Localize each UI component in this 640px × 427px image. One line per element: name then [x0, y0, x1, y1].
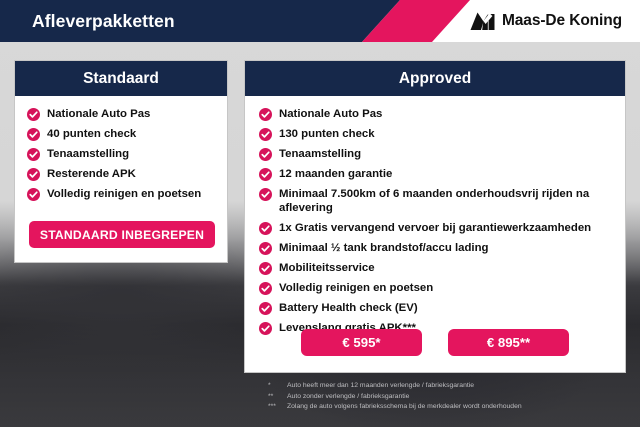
check-circle-icon	[27, 148, 40, 161]
list-item-label: 40 punten check	[47, 127, 136, 141]
check-circle-icon	[259, 168, 272, 181]
list-item: Minimaal 7.500km of 6 maanden onderhouds…	[259, 187, 625, 215]
list-item: Volledig reinigen en poetsen	[27, 187, 227, 201]
footnote-text: Zolang de auto volgens fabrieksschema bi…	[287, 402, 522, 413]
price-button-row: € 595* € 895**	[245, 329, 625, 356]
footnotes: * Auto heeft meer dan 12 maanden verleng…	[268, 381, 522, 413]
standard-card-heading: Standaard	[15, 61, 227, 96]
price-button-595[interactable]: € 595*	[301, 329, 422, 356]
list-item: Mobiliteitsservice	[259, 261, 625, 275]
check-circle-icon	[259, 242, 272, 255]
list-item: 130 punten check	[259, 127, 625, 141]
brand-name: Maas-De Koning	[502, 12, 622, 30]
list-item-label: Minimaal 7.500km of 6 maanden onderhouds…	[279, 187, 625, 215]
check-circle-icon	[27, 188, 40, 201]
page-header: Afleverpakketten Maas-De Koning	[0, 0, 640, 42]
list-item: Battery Health check (EV)	[259, 301, 625, 315]
standard-feature-list: Nationale Auto Pas 40 punten check Tenaa…	[15, 96, 227, 201]
list-item-label: Battery Health check (EV)	[279, 301, 418, 315]
list-item-label: 12 maanden garantie	[279, 167, 392, 181]
page-root: Afleverpakketten Maas-De Koning Standaar…	[0, 0, 640, 427]
standard-package-card: Standaard Nationale Auto Pas 40 punten c…	[14, 60, 228, 263]
list-item-label: 130 punten check	[279, 127, 375, 141]
check-circle-icon	[27, 108, 40, 121]
check-circle-icon	[259, 128, 272, 141]
footnote-marker: *	[268, 381, 287, 392]
list-item: Tenaamstelling	[27, 147, 227, 161]
list-item-label: Volledig reinigen en poetsen	[47, 187, 201, 201]
price-button-895[interactable]: € 895**	[448, 329, 569, 356]
brand-logo: Maas-De Koning	[470, 0, 622, 42]
approved-package-card: Approved Nationale Auto Pas 130 punten c…	[244, 60, 626, 373]
check-circle-icon	[27, 168, 40, 181]
check-circle-icon	[259, 222, 272, 235]
list-item-label: Volledig reinigen en poetsen	[279, 281, 433, 295]
list-item: Minimaal ½ tank brandstof/accu lading	[259, 241, 625, 255]
check-circle-icon	[259, 188, 272, 201]
list-item: 1x Gratis vervangend vervoer bij garanti…	[259, 221, 625, 235]
standard-included-button[interactable]: STANDAARD INBEGREPEN	[29, 221, 215, 248]
maas-de-koning-m-logo-icon	[470, 12, 495, 31]
check-circle-icon	[27, 128, 40, 141]
check-circle-icon	[259, 108, 272, 121]
approved-feature-list: Nationale Auto Pas 130 punten check Tena…	[245, 96, 625, 335]
list-item: Volledig reinigen en poetsen	[259, 281, 625, 295]
footnote-text: Auto zonder verlengde / fabrieksgarantie	[287, 392, 409, 403]
footnote-text: Auto heeft meer dan 12 maanden verlengde…	[287, 381, 474, 392]
check-circle-icon	[259, 282, 272, 295]
list-item: Resterende APK	[27, 167, 227, 181]
footnote-row: ** Auto zonder verlengde / fabrieksgaran…	[268, 392, 522, 403]
footnote-marker: ***	[268, 402, 287, 413]
list-item-label: Nationale Auto Pas	[279, 107, 382, 121]
list-item-label: Minimaal ½ tank brandstof/accu lading	[279, 241, 489, 255]
list-item-label: Resterende APK	[47, 167, 136, 181]
list-item: 40 punten check	[27, 127, 227, 141]
list-item-label: 1x Gratis vervangend vervoer bij garanti…	[279, 221, 591, 235]
list-item: 12 maanden garantie	[259, 167, 625, 181]
list-item: Nationale Auto Pas	[27, 107, 227, 121]
list-item-label: Tenaamstelling	[47, 147, 129, 161]
footnote-row: *** Zolang de auto volgens fabrieksschem…	[268, 402, 522, 413]
page-title: Afleverpakketten	[32, 0, 175, 42]
footnote-row: * Auto heeft meer dan 12 maanden verleng…	[268, 381, 522, 392]
list-item: Nationale Auto Pas	[259, 107, 625, 121]
list-item-label: Nationale Auto Pas	[47, 107, 150, 121]
list-item-label: Mobiliteitsservice	[279, 261, 375, 275]
list-item-label: Tenaamstelling	[279, 147, 361, 161]
check-circle-icon	[259, 262, 272, 275]
check-circle-icon	[259, 302, 272, 315]
footnote-marker: **	[268, 392, 287, 403]
approved-card-heading: Approved	[245, 61, 625, 96]
check-circle-icon	[259, 148, 272, 161]
list-item: Tenaamstelling	[259, 147, 625, 161]
